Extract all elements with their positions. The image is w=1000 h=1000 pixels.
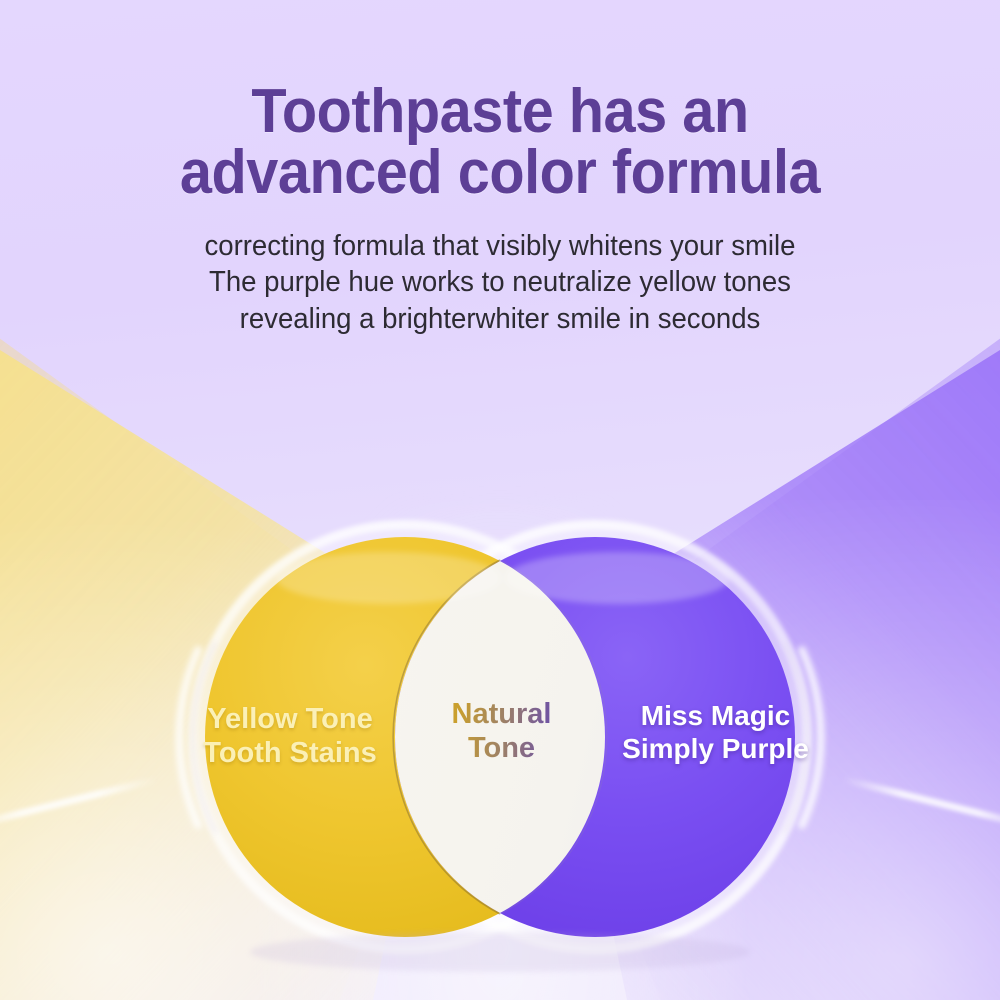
venn-shadow — [250, 932, 750, 972]
headline-line-1: Toothpaste has an — [251, 77, 748, 146]
poster-canvas: Toothpaste has an advanced color formula… — [0, 0, 1000, 1000]
subtitle-line-3: revealing a brighterwhiter smile in seco… — [25, 301, 975, 338]
page-title: Toothpaste has an advanced color formula — [35, 82, 965, 204]
subtitle-block: correcting formula that visibly whitens … — [25, 228, 975, 338]
subtitle-line-2: The purple hue works to neutralize yello… — [25, 264, 975, 301]
header-block: Toothpaste has an advanced color formula… — [0, 82, 1000, 337]
headline-line-2: advanced color formula — [35, 143, 965, 204]
venn-diagram — [120, 500, 880, 980]
subtitle-line-1: correcting formula that visibly whitens … — [25, 228, 975, 265]
